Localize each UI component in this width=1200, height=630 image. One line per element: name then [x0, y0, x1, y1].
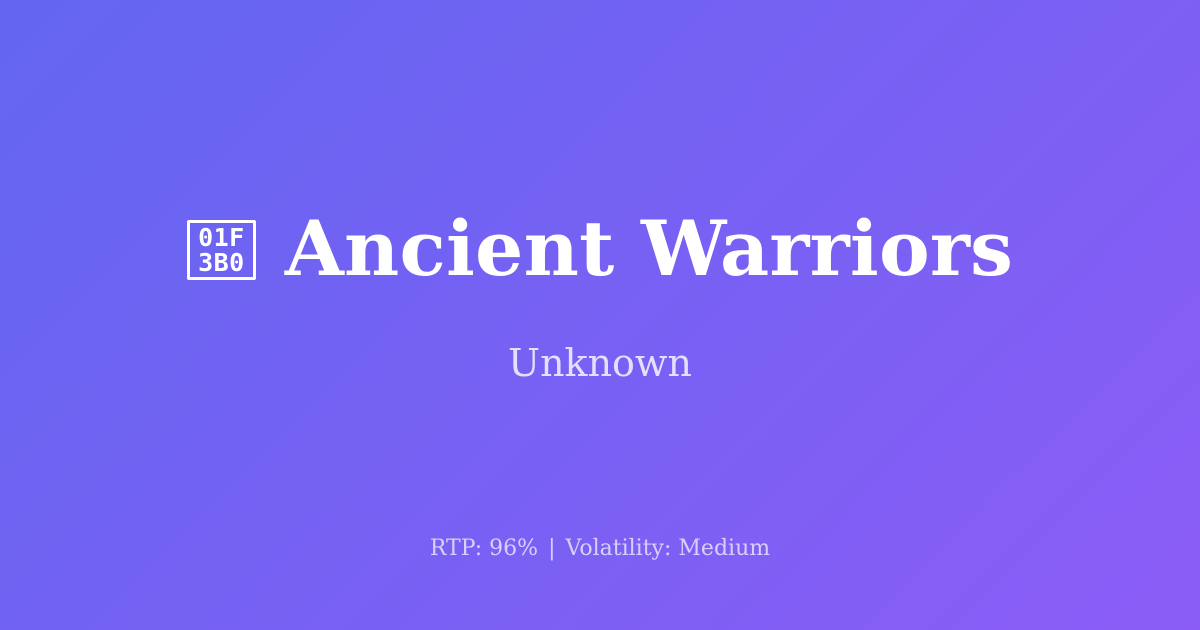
- meta-separator: |: [545, 536, 558, 561]
- tofu-hex-bottom: 3B0: [198, 250, 245, 275]
- page-title: Ancient Warriors: [285, 209, 1013, 289]
- rtp-value: 96%: [489, 536, 538, 561]
- slot-machine-icon: 01F 3B0: [187, 220, 256, 280]
- rtp-label: RTP:: [430, 536, 482, 561]
- game-meta-line: RTP: 96% | Volatility: Medium: [0, 536, 1200, 562]
- hero-block: 01F 3B0 Ancient Warriors Unknown: [0, 209, 1200, 386]
- tofu-hex-top: 01F: [198, 225, 245, 250]
- title-row: 01F 3B0 Ancient Warriors: [0, 209, 1200, 289]
- volatility-label: Volatility:: [566, 536, 672, 561]
- volatility-value: Medium: [678, 536, 770, 561]
- game-provider-subtitle: Unknown: [508, 341, 692, 387]
- game-og-card: 01F 3B0 Ancient Warriors Unknown RTP: 96…: [0, 0, 1200, 630]
